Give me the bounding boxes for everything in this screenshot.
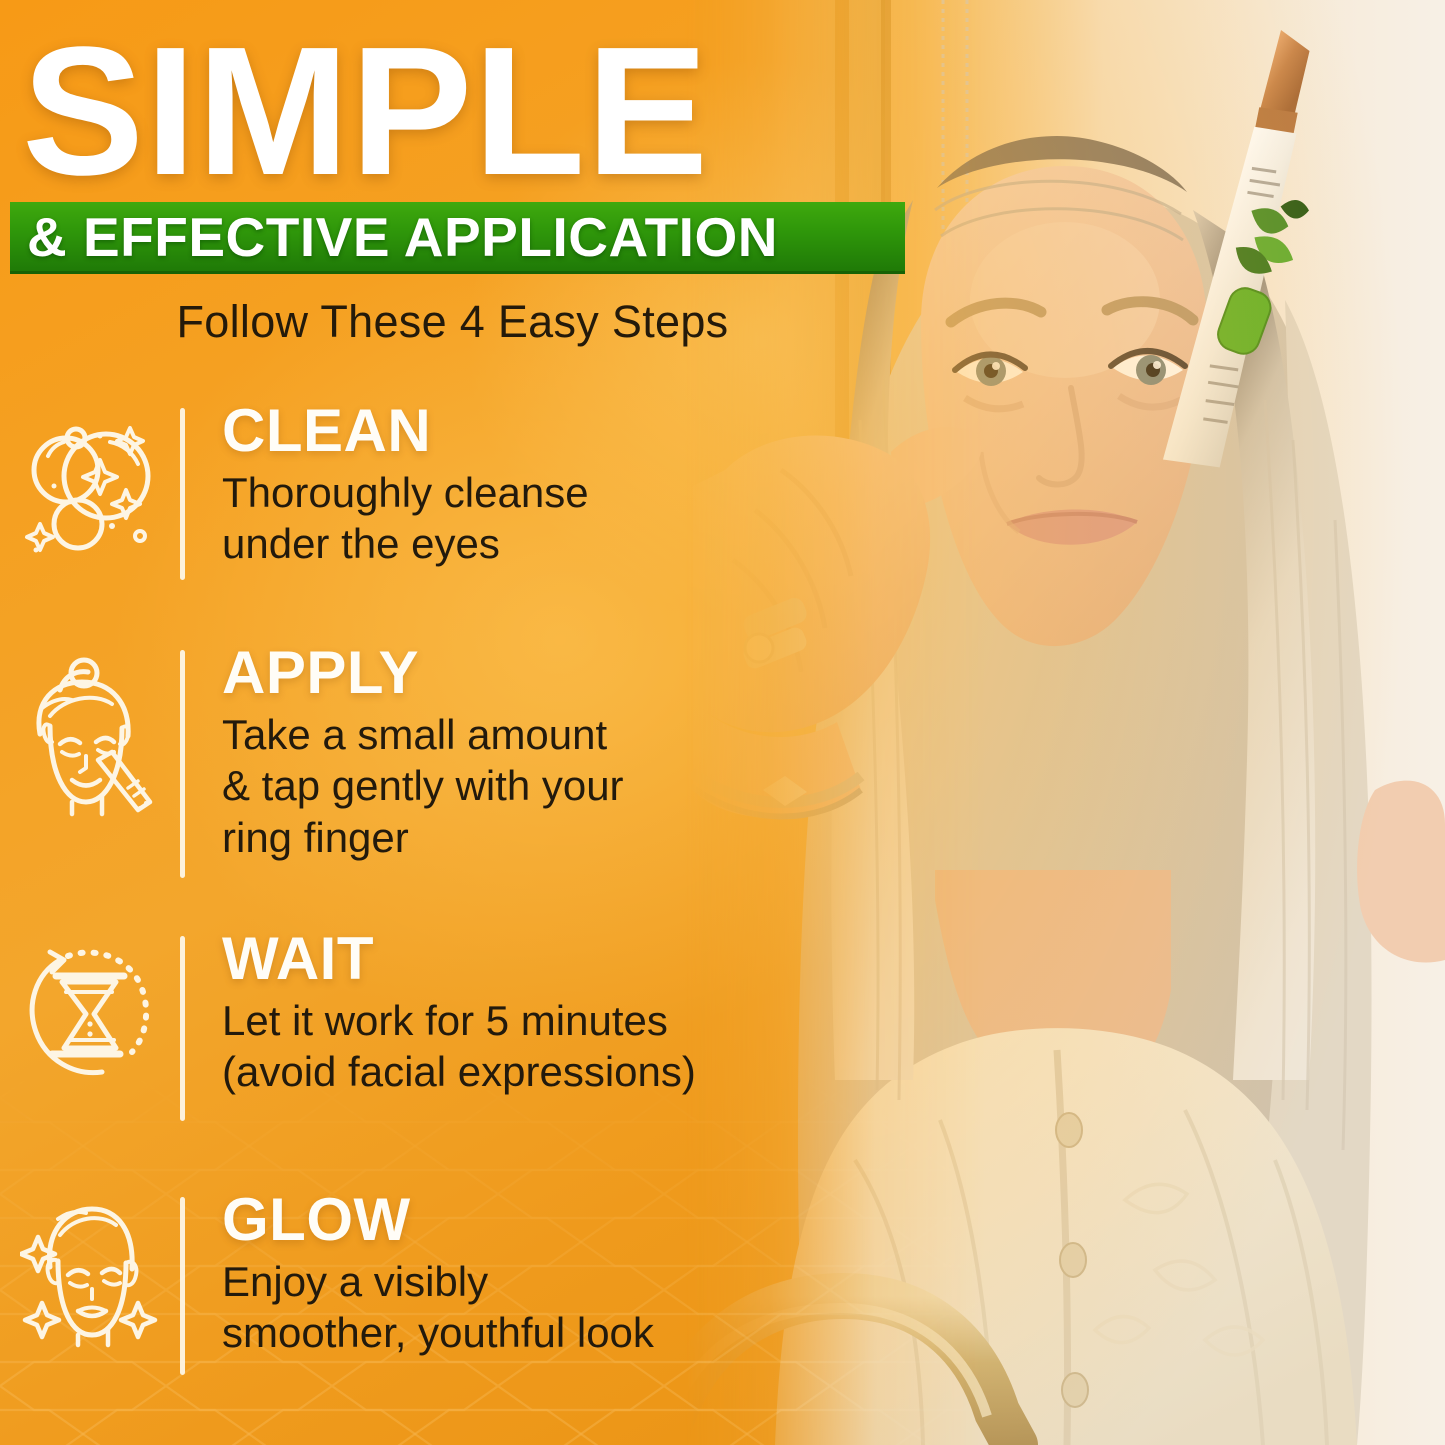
step-title-apply: APPLY — [222, 642, 624, 703]
bubbles-sparkle-icon — [0, 398, 180, 554]
step-title-glow: GLOW — [222, 1189, 654, 1250]
product-infographic-poster: SIMPLE & EFFECTIVE APPLICATION Follow Th… — [0, 0, 1445, 1445]
step-divider — [180, 1197, 185, 1375]
step-text-clean: CLEAN Thoroughly cleanse under the eyes — [185, 398, 589, 570]
step-text-glow: GLOW Enjoy a visibly smoother, youthful … — [185, 1187, 654, 1359]
step-desc-line: Let it work for 5 minutes — [222, 995, 696, 1046]
step-item-clean: CLEAN Thoroughly cleanse under the eyes — [0, 398, 790, 580]
step-text-wait: WAIT Let it work for 5 minutes (avoid fa… — [185, 926, 696, 1098]
step-title-wait: WAIT — [222, 928, 696, 989]
step-desc-line: Thoroughly cleanse — [222, 467, 589, 518]
step-desc-line: Take a small amount — [222, 709, 624, 760]
step-desc-line: smoother, youthful look — [222, 1307, 654, 1358]
glowing-face-icon — [0, 1187, 180, 1348]
steps-list: CLEAN Thoroughly cleanse under the eyes — [0, 398, 790, 1399]
step-desc-clean: Thoroughly cleanse under the eyes — [222, 467, 589, 569]
steps-subtitle: Follow These 4 Easy Steps — [0, 296, 905, 348]
poster-header: SIMPLE & EFFECTIVE APPLICATION Follow Th… — [0, 0, 935, 348]
step-desc-wait: Let it work for 5 minutes (avoid facial … — [222, 995, 696, 1097]
subtitle-green-band: & EFFECTIVE APPLICATION — [10, 202, 905, 274]
step-item-glow: GLOW Enjoy a visibly smoother, youthful … — [0, 1187, 790, 1375]
step-divider — [180, 936, 185, 1121]
step-desc-line: & tap gently with your — [222, 760, 624, 811]
step-divider — [180, 650, 185, 878]
step-desc-apply: Take a small amount & tap gently with yo… — [222, 709, 624, 863]
step-text-apply: APPLY Take a small amount & tap gently w… — [185, 640, 624, 863]
step-divider — [180, 408, 185, 580]
page-title: SIMPLE — [0, 0, 935, 196]
step-desc-glow: Enjoy a visibly smoother, youthful look — [222, 1256, 654, 1358]
face-applicator-icon — [0, 640, 180, 821]
step-desc-line: under the eyes — [222, 518, 589, 569]
subtitle-band-text: & EFFECTIVE APPLICATION — [10, 205, 778, 269]
step-desc-line: Enjoy a visibly — [222, 1256, 654, 1307]
step-item-apply: APPLY Take a small amount & tap gently w… — [0, 640, 790, 878]
step-item-wait: WAIT Let it work for 5 minutes (avoid fa… — [0, 926, 790, 1121]
step-desc-line: ring finger — [222, 812, 624, 863]
step-desc-line: (avoid facial expressions) — [222, 1046, 696, 1097]
step-title-clean: CLEAN — [222, 400, 589, 461]
hourglass-timer-icon — [0, 926, 180, 1082]
